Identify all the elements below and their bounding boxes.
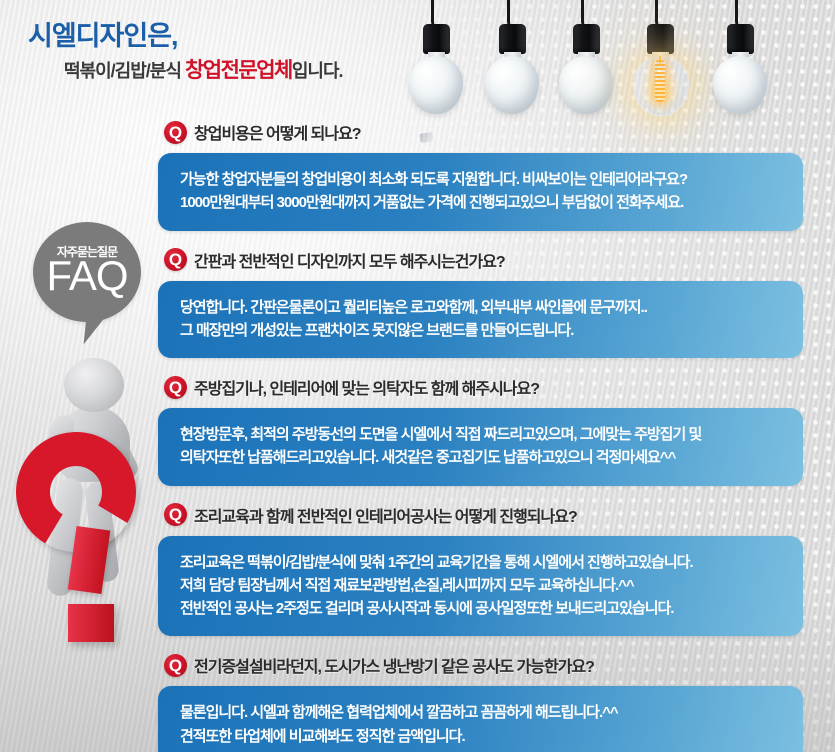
- page-title: 시엘디자인은,: [28, 22, 498, 52]
- question-marker-icon: Q: [164, 248, 187, 271]
- faq-item: Q 주방집기나, 인테리어에 맞는 의탁자도 함께 해주시나요? 현장방문후, …: [158, 373, 808, 486]
- faq-answer: 현장방문후, 최적의 주방동선의 도면을 시엘에서 직접 짜드리고있으며, 그에…: [158, 408, 803, 486]
- faq-answer: 물론입니다. 시엘과 함께해온 협력업체에서 깔끔하고 꼼꼼하게 해드립니다.^…: [158, 686, 803, 752]
- faq-answer-line: 1000만원대부터 3000만원대까지 거품없는 가격에 진행되고있으니 부담없…: [180, 191, 781, 214]
- faq-badge-big-label: FAQ: [33, 255, 141, 297]
- faq-question[interactable]: Q 간판과 전반적인 디자인까지 모두 해주시는건가요?: [158, 246, 808, 274]
- header: 시엘디자인은, 떡볶이/김밥/분식 창업전문업체입니다.: [28, 22, 498, 83]
- faq-list: Q 창업비용은 어떻게 되나요? 가능한 창업자분들의 창업비용이 최소화 되도…: [158, 118, 808, 752]
- question-marker-icon: Q: [164, 503, 187, 526]
- faq-answer: 가능한 창업자분들의 창업비용이 최소화 되도록 지원합니다. 비싸보이는 인테…: [158, 153, 803, 231]
- faq-answer-line: 전반적인 공사는 2주정도 걸리며 공사시작과 동시에 공사일정또한 보내드리고…: [180, 597, 781, 620]
- faq-item: Q 창업비용은 어떻게 되나요? 가능한 창업자분들의 창업비용이 최소화 되도…: [158, 118, 808, 231]
- faq-item: Q 간판과 전반적인 디자인까지 모두 해주시는건가요? 당연합니다. 간판은물…: [158, 246, 808, 359]
- background-smudge: [419, 132, 433, 143]
- faq-question-text: 주방집기나, 인테리어에 맞는 의탁자도 함께 해주시나요?: [194, 375, 539, 399]
- faq-question[interactable]: Q 전기증설설비라던지, 도시가스 냉난방기 같은 공사도 가능한가요?: [158, 651, 808, 679]
- faq-answer-line: 조리교육은 떡볶이/김밥/분식에 맞춰 1주간의 교육기간을 통해 시엘에서 진…: [180, 551, 781, 574]
- faq-badge-tail: [84, 315, 115, 348]
- faq-answer-line: 현장방문후, 최적의 주방동선의 도면을 시엘에서 직접 짜드리고있으며, 그에…: [180, 423, 781, 446]
- faq-item: Q 조리교육과 함께 전반적인 인테리어공사는 어떻게 진행되나요? 조리교육은…: [158, 501, 808, 637]
- faq-answer-line: 당연합니다. 간판은물론이고 퀄리티높은 로고와함께, 외부내부 싸인몰에 문구…: [180, 296, 781, 319]
- faq-answer-line: 의탁자또한 납품해드리고있습니다. 새것같은 중고집기도 납품하고있으니 걱정마…: [180, 446, 781, 469]
- faq-promo-banner: 시엘디자인은, 떡볶이/김밥/분식 창업전문업체입니다. 자주묻는질문 FAQ …: [0, 0, 835, 752]
- faq-answer-line: 저희 담당 팀장님께서 직접 재료보관방법,손질,레시피까지 모두 교육하십니다…: [180, 574, 781, 597]
- subtitle-accent: 창업전문업체: [185, 59, 292, 82]
- faq-question-text: 조리교육과 함께 전반적인 인테리어공사는 어떻게 진행되나요?: [194, 503, 577, 527]
- subtitle-suffix: 입니다.: [292, 61, 343, 81]
- figure-leg-left: [46, 477, 84, 597]
- page-subtitle: 떡볶이/김밥/분식 창업전문업체입니다.: [64, 59, 498, 83]
- faq-answer-line: 견적또한 타업체에 비교해봐도 정직한 금액입니다.: [180, 725, 781, 748]
- figure-leg-right: [84, 481, 120, 583]
- faq-question-text: 창업비용은 어떻게 되나요?: [194, 120, 361, 144]
- faq-answer: 조리교육은 떡볶이/김밥/분식에 맞춰 1주간의 교육기간을 통해 시엘에서 진…: [158, 536, 803, 637]
- question-marker-icon: Q: [164, 376, 187, 399]
- faq-answer-line: 가능한 창업자분들의 창업비용이 최소화 되도록 지원합니다. 비싸보이는 인테…: [180, 168, 781, 191]
- faq-question[interactable]: Q 창업비용은 어떻게 되나요?: [158, 118, 808, 146]
- faq-answer: 당연합니다. 간판은물론이고 퀄리티높은 로고와함께, 외부내부 싸인몰에 문구…: [158, 281, 803, 359]
- figure-head: [64, 358, 124, 412]
- faq-answer-line: 그 매장만의 개성있는 프랜차이즈 못지않은 브랜드를 만들어드립니다.: [180, 319, 781, 342]
- faq-question-text: 전기증설설비라던지, 도시가스 냉난방기 같은 공사도 가능한가요?: [194, 653, 594, 677]
- faq-question[interactable]: Q 조리교육과 함께 전반적인 인테리어공사는 어떻게 진행되나요?: [158, 501, 808, 529]
- question-marker-icon: Q: [164, 654, 187, 677]
- subtitle-prefix: 떡볶이/김밥/분식: [64, 61, 185, 81]
- faq-question[interactable]: Q 주방집기나, 인테리어에 맞는 의탁자도 함께 해주시나요?: [158, 373, 808, 401]
- faq-question-text: 간판과 전반적인 디자인까지 모두 해주시는건가요?: [194, 248, 505, 272]
- question-marker-icon: Q: [164, 121, 187, 144]
- faq-badge: 자주묻는질문 FAQ: [33, 222, 141, 322]
- faq-item: Q 전기증설설비라던지, 도시가스 냉난방기 같은 공사도 가능한가요? 물론입…: [158, 651, 808, 752]
- thinking-person-illustration: [18, 350, 178, 650]
- faq-answer-line: 물론입니다. 시엘과 함께해온 협력업체에서 깔끔하고 꼼꼼하게 해드립니다.^…: [180, 701, 781, 724]
